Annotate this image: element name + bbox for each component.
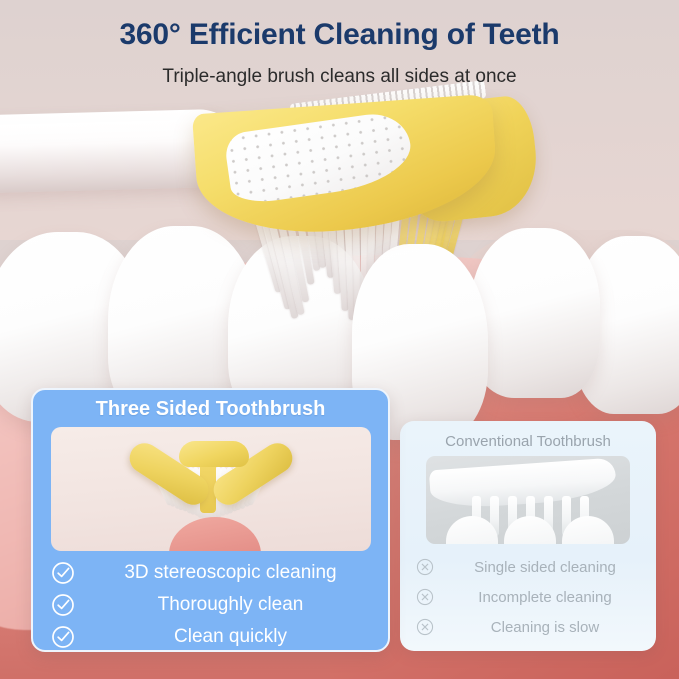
three-sided-brush-photo [51, 427, 371, 551]
circle-x-icon [416, 618, 434, 636]
brush-head [196, 104, 536, 246]
three-sided-toothbrush-card: Three Sided Toothbrush 3D stereoscopic c… [31, 388, 390, 652]
list-item-label: 3D stereoscopic cleaning [85, 562, 376, 584]
conventional-card-title: Conventional Toothbrush [410, 433, 646, 450]
brush-grip-pad [223, 109, 415, 206]
list-item: Single sided cleaning [410, 552, 646, 582]
list-item: Thoroughly clean [45, 589, 376, 621]
list-item: Clean quickly [45, 621, 376, 653]
tooth-closeup [169, 517, 261, 551]
list-item: Incomplete cleaning [410, 582, 646, 612]
circle-check-icon [51, 593, 75, 617]
brush-crown [179, 441, 249, 467]
page-subtitle: Triple-angle brush cleans all sides at o… [0, 66, 679, 88]
list-item-label: Cleaning is slow [444, 619, 646, 636]
list-item: Cleaning is slow [410, 612, 646, 642]
tooth [470, 228, 600, 398]
conventional-brush-photo [426, 456, 630, 544]
list-item-label: Thoroughly clean [85, 594, 376, 616]
circle-x-icon [416, 558, 434, 576]
circle-check-icon [51, 625, 75, 649]
three-sided-card-title: Three Sided Toothbrush [45, 398, 376, 421]
page-title: 360° Efficient Cleaning of Teeth [0, 18, 679, 52]
list-item-label: Clean quickly [85, 626, 376, 648]
circle-x-icon [416, 588, 434, 606]
conventional-toothbrush-card: Conventional Toothbrush Single sided cle… [400, 421, 656, 651]
circle-check-icon [51, 561, 75, 585]
grip-texture [223, 109, 415, 206]
list-item: 3D stereoscopic cleaning [45, 557, 376, 589]
list-item-label: Incomplete cleaning [444, 589, 646, 606]
product-infographic: 360° Efficient Cleaning of Teeth Triple-… [0, 0, 679, 679]
handle-highlight [0, 119, 210, 147]
list-item-label: Single sided cleaning [444, 559, 646, 576]
